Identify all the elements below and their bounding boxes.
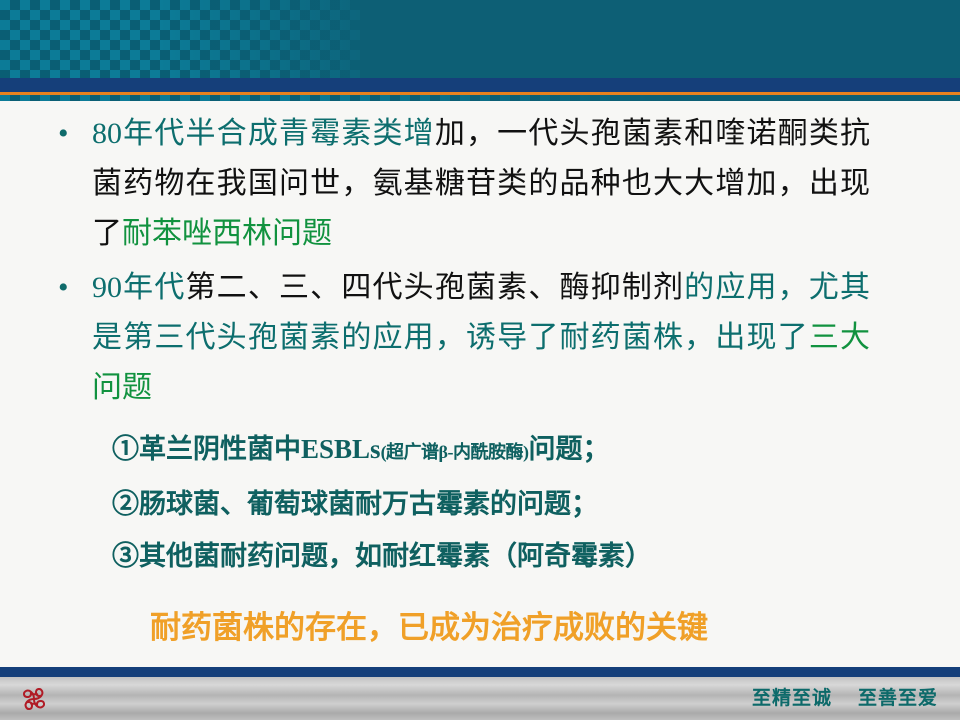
bullet-1-segment-green: 耐苯唑西林问题 — [122, 217, 332, 250]
footer-navy-rule — [0, 667, 960, 677]
footer-motto-left: 至精至诚 — [752, 687, 832, 709]
subitem-1-text-before: 革兰阴性菌中 — [139, 434, 301, 464]
subitem-1-text-after: 问题； — [529, 434, 610, 464]
slide-footer: 至精至诚至善至爱 — [0, 667, 960, 720]
header-navy-band — [0, 78, 960, 92]
bullet-marker-2: • — [58, 263, 92, 313]
bullet-item-2: • 90年代第二、三、四代头孢菌素、酶抑制剂的应用，尤其是第三代头孢菌素的应用，… — [0, 263, 960, 413]
slide-header — [0, 0, 960, 101]
subitem-2-text: 肠球菌、葡萄球菌耐万古霉素的问题； — [139, 489, 598, 519]
bullet-item-1: • 80年代半合成青霉素类增加，一代头孢菌素和喹诺酮类抗菌药物在我国问世，氨基糖… — [0, 109, 960, 259]
conclusion-statement: 耐药菌株的存在，已成为治疗成败的关键 — [0, 604, 960, 652]
subitem-3: ③其他菌耐药问题，如耐红霉素（阿奇霉素） — [0, 530, 960, 582]
subitem-2: ②肠球菌、葡萄球菌耐万古霉素的问题； — [0, 478, 960, 530]
subitem-3-text: 其他菌耐药问题，如耐红霉素（阿奇霉素） — [139, 541, 652, 571]
footer-motto-right: 至善至爱 — [858, 687, 938, 709]
slide-canvas: • 80年代半合成青霉素类增加，一代头孢菌素和喹诺酮类抗菌药物在我国问世，氨基糖… — [0, 0, 960, 720]
subitem-2-number: ② — [112, 489, 139, 519]
bullet-text-1: 80年代半合成青霉素类增加，一代头孢菌素和喹诺酮类抗菌药物在我国问世，氨基糖苷类… — [92, 109, 870, 259]
subitem-1-number: ① — [112, 434, 139, 464]
hospital-pinwheel-logo-icon — [12, 679, 56, 719]
subitem-1-acronym: ESBLs — [301, 434, 381, 464]
bullet-text-2: 90年代第二、三、四代头孢菌素、酶抑制剂的应用，尤其是第三代头孢菌素的应用，诱导… — [92, 263, 870, 413]
bullet-1-segment-teal: 80年代半合成青霉素类增 — [92, 117, 435, 150]
bullet-2-segment-black: 第二、三、四代头孢菌素、酶抑制剂 — [186, 271, 685, 304]
slide-body: • 80年代半合成青霉素类增加，一代头孢菌素和喹诺酮类抗菌药物在我国问世，氨基糖… — [0, 101, 960, 667]
subitem-1: ①革兰阴性菌中ESBLs(超广谱β-内酰胺酶)问题； — [0, 423, 960, 478]
bullet-marker-1: • — [58, 109, 92, 159]
subitem-1-expansion: (超广谱β-内酰胺酶) — [381, 442, 529, 462]
footer-motto: 至精至诚至善至爱 — [752, 683, 938, 710]
header-checker-fade — [160, 0, 420, 78]
subitem-3-number: ③ — [112, 541, 139, 571]
bullet-2-segment-teal-lead: 90年代 — [92, 271, 186, 304]
